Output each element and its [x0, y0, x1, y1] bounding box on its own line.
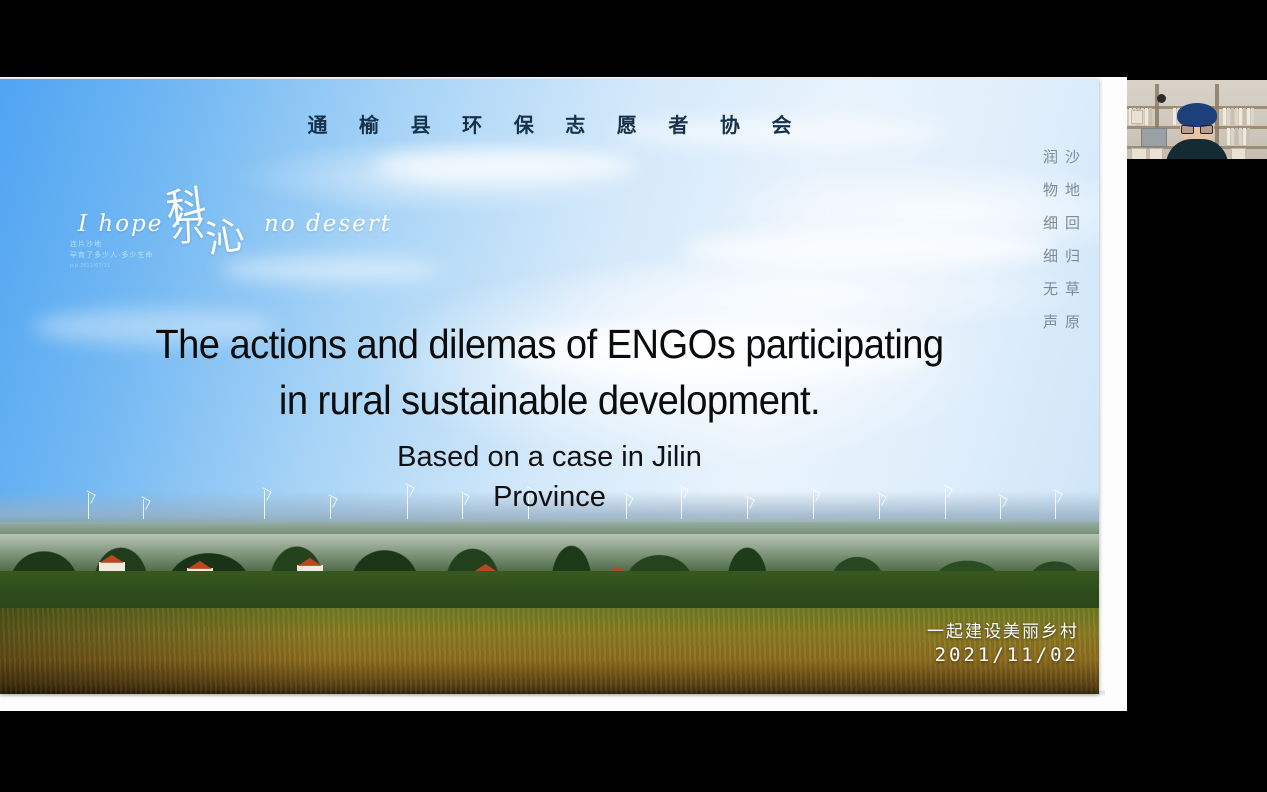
slide-title-line-1: The actions and dilemas of ENGOs partici… [38, 316, 1060, 372]
slogan-text: 一起建设美丽乡村 [927, 617, 1079, 642]
logo-subtext: 连片沙地 孕育了多少人·多少生命 p.h 2021/07/31 [70, 239, 153, 272]
organization-header: 通 榆 县 环 保 志 愿 者 协 会 [0, 109, 1099, 138]
slide-subtitle: Based on a case in Jilin Province [0, 437, 1099, 517]
slide-slogan: 一起建设美丽乡村 2021/11/02 [927, 617, 1079, 666]
association-logo: I hope no desert 科尔沁 连片沙地 孕育了多少人·多少生命 p.… [60, 189, 325, 281]
vertical-poem: 沙 地 回 归 草 原 润 物 细 细 无 声 [1043, 141, 1081, 339]
glasses-icon [1181, 125, 1213, 134]
logo-script-right: no desert [264, 211, 392, 237]
vertical-poem-left-column: 润 物 细 细 无 声 [1043, 141, 1059, 339]
shared-slide-frame[interactable]: 通 榆 县 环 保 志 愿 者 协 会 I hope no desert 科尔沁… [0, 77, 1127, 711]
vertical-poem-right-column: 沙 地 回 归 草 原 [1065, 141, 1081, 339]
participant-avatar [1166, 107, 1228, 165]
participant-video-tile[interactable] [1127, 80, 1267, 165]
logo-subtext-line-2: 孕育了多少人·多少生命 [70, 250, 153, 261]
logo-subtext-line-3: p.h 2021/07/31 [70, 261, 153, 272]
slide-title: The actions and dilemas of ENGOs partici… [38, 316, 1060, 428]
decorative-orb [1157, 94, 1166, 103]
logo-subtext-line-1: 连片沙地 [70, 239, 153, 250]
meeting-screen: 通 榆 县 环 保 志 愿 者 协 会 I hope no desert 科尔沁… [0, 0, 1267, 792]
slide-subtitle-line-1: Based on a case in Jilin [397, 441, 702, 473]
slide-title-line-2: in rural sustainable development. [38, 372, 1060, 428]
presentation-slide[interactable]: 通 榆 县 环 保 志 愿 者 协 会 I hope no desert 科尔沁… [0, 79, 1099, 694]
monitor [1141, 128, 1167, 147]
slide-subtitle-line-2: Province [0, 477, 1099, 517]
video-letterbox [1127, 159, 1267, 165]
slogan-date: 2021/11/02 [927, 644, 1079, 666]
logo-script-left: I hope [78, 211, 163, 237]
